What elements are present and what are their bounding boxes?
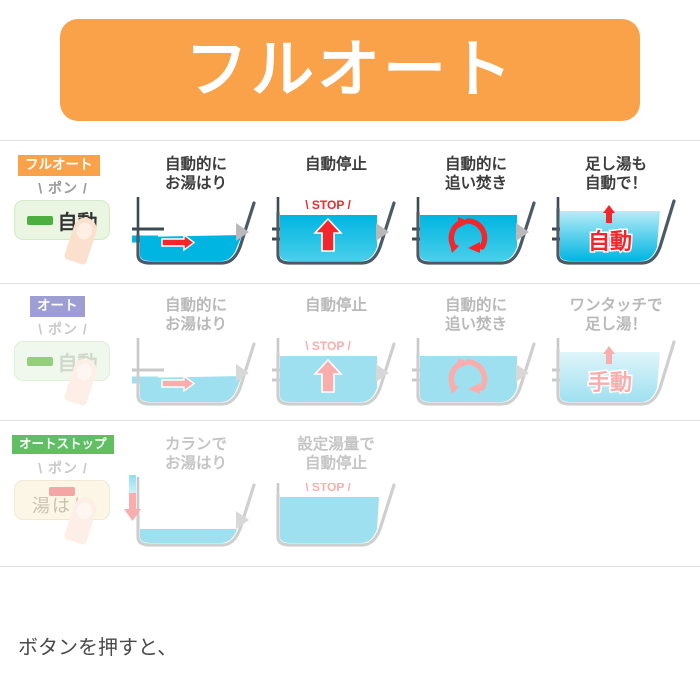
control-auto-stop: オートストップ \ ポン / 湯はり	[8, 435, 118, 555]
step-label: 自動停止	[262, 296, 410, 315]
step-label: 自動的に 追い焚き	[402, 296, 550, 335]
divider-row3	[0, 566, 700, 567]
mode-badge-full-auto: フルオート	[18, 155, 100, 176]
stop-text: \ STOP /	[305, 483, 351, 494]
divider-row1	[0, 283, 700, 284]
mode-badge-auto-stop: オートストップ	[12, 435, 114, 454]
control-auto: オート \ ポン / 自動	[8, 296, 118, 416]
step-label: 自動的に 追い焚き	[402, 155, 550, 194]
step-label: ワンタッチで 足し湯！	[542, 296, 690, 335]
step-separator-icon	[376, 364, 389, 382]
note-line-1: ボタンを押すと、	[18, 631, 688, 666]
header-badge: フルオート	[60, 19, 640, 121]
step-label: 自動的に お湯はり	[122, 296, 270, 335]
press-hint-auto-stop: \ ポン /	[8, 458, 118, 478]
row-auto-stop: オートストップ \ ポン / 湯はり カランで お湯はり	[0, 435, 700, 566]
step-auto-1: 自動的に お湯はり	[122, 296, 270, 416]
row-auto: オート \ ポン / 自動 自動的に お湯はり	[0, 296, 700, 420]
stop-text: \ STOP /	[305, 339, 351, 353]
mode-badge-auto: オート	[30, 296, 85, 317]
step-label: カランで お湯はり	[122, 435, 270, 474]
divider-row2	[0, 420, 700, 421]
divider-top	[0, 140, 700, 141]
step-label: 設定湯量で 自動停止	[262, 435, 410, 474]
step-auto-3: 自動的に 追い焚き	[402, 296, 550, 416]
step-separator-icon	[516, 364, 529, 382]
step-stop-2: 設定湯量で 自動停止 \ STOP /	[262, 435, 410, 555]
step-separator-icon	[236, 364, 249, 382]
auto-button-auto[interactable]: 自動	[14, 341, 110, 381]
step-separator-icon	[376, 223, 389, 241]
step-stop-1: カランで お湯はり	[122, 435, 270, 555]
tub-add-hot-water: 自動	[542, 195, 690, 273]
step-label: 足し湯も 自動で！	[542, 155, 690, 194]
page-title: フルオート	[185, 39, 515, 102]
indicator-icon	[49, 487, 75, 496]
header: フルオート	[0, 0, 700, 140]
step-full-2: 自動停止 \ STOP /	[262, 155, 410, 275]
indicator-icon	[27, 216, 53, 225]
control-full-auto: フルオート \ ポン / 自動	[8, 155, 118, 275]
auto-button-full[interactable]: 自動	[14, 200, 110, 240]
footer-note: ボタンを押すと、 「お湯はり」「自動停止」「追い焚き・保温」「足し湯」まで 自動…	[18, 596, 688, 700]
tub-full-stop: \ STOP /	[262, 483, 410, 561]
step-label: 自動的に お湯はり	[122, 155, 270, 194]
row-full-auto: フルオート \ ポン / 自動 自動的に お湯はり	[0, 155, 700, 283]
press-hint-auto: \ ポン /	[8, 319, 118, 339]
stop-text: \ STOP /	[305, 198, 351, 212]
indicator-icon	[27, 357, 53, 366]
step-auto-4: ワンタッチで 足し湯！ 手動	[542, 296, 690, 416]
press-hint-full-auto: \ ポン /	[8, 178, 118, 198]
step-auto-2: 自動停止 \ STOP /	[262, 296, 410, 416]
infographic-page: フルオート フルオート \ ポン / 自動 自動的に お湯はり	[0, 0, 700, 700]
fill-button[interactable]: 湯はり	[14, 480, 110, 520]
step-full-3: 自動的に 追い焚き	[402, 155, 550, 275]
manual-overlay-text: 手動	[588, 370, 632, 395]
step-label: 自動停止	[262, 155, 410, 174]
step-separator-icon	[236, 511, 249, 529]
auto-overlay-text: 自動	[588, 229, 632, 254]
step-separator-icon	[516, 223, 529, 241]
step-full-1: 自動的に お湯はり	[122, 155, 270, 275]
tub-add-hot-water-manual: 手動	[542, 336, 690, 414]
step-full-4: 足し湯も 自動で！ 自動	[542, 155, 690, 275]
step-separator-icon	[236, 223, 249, 241]
